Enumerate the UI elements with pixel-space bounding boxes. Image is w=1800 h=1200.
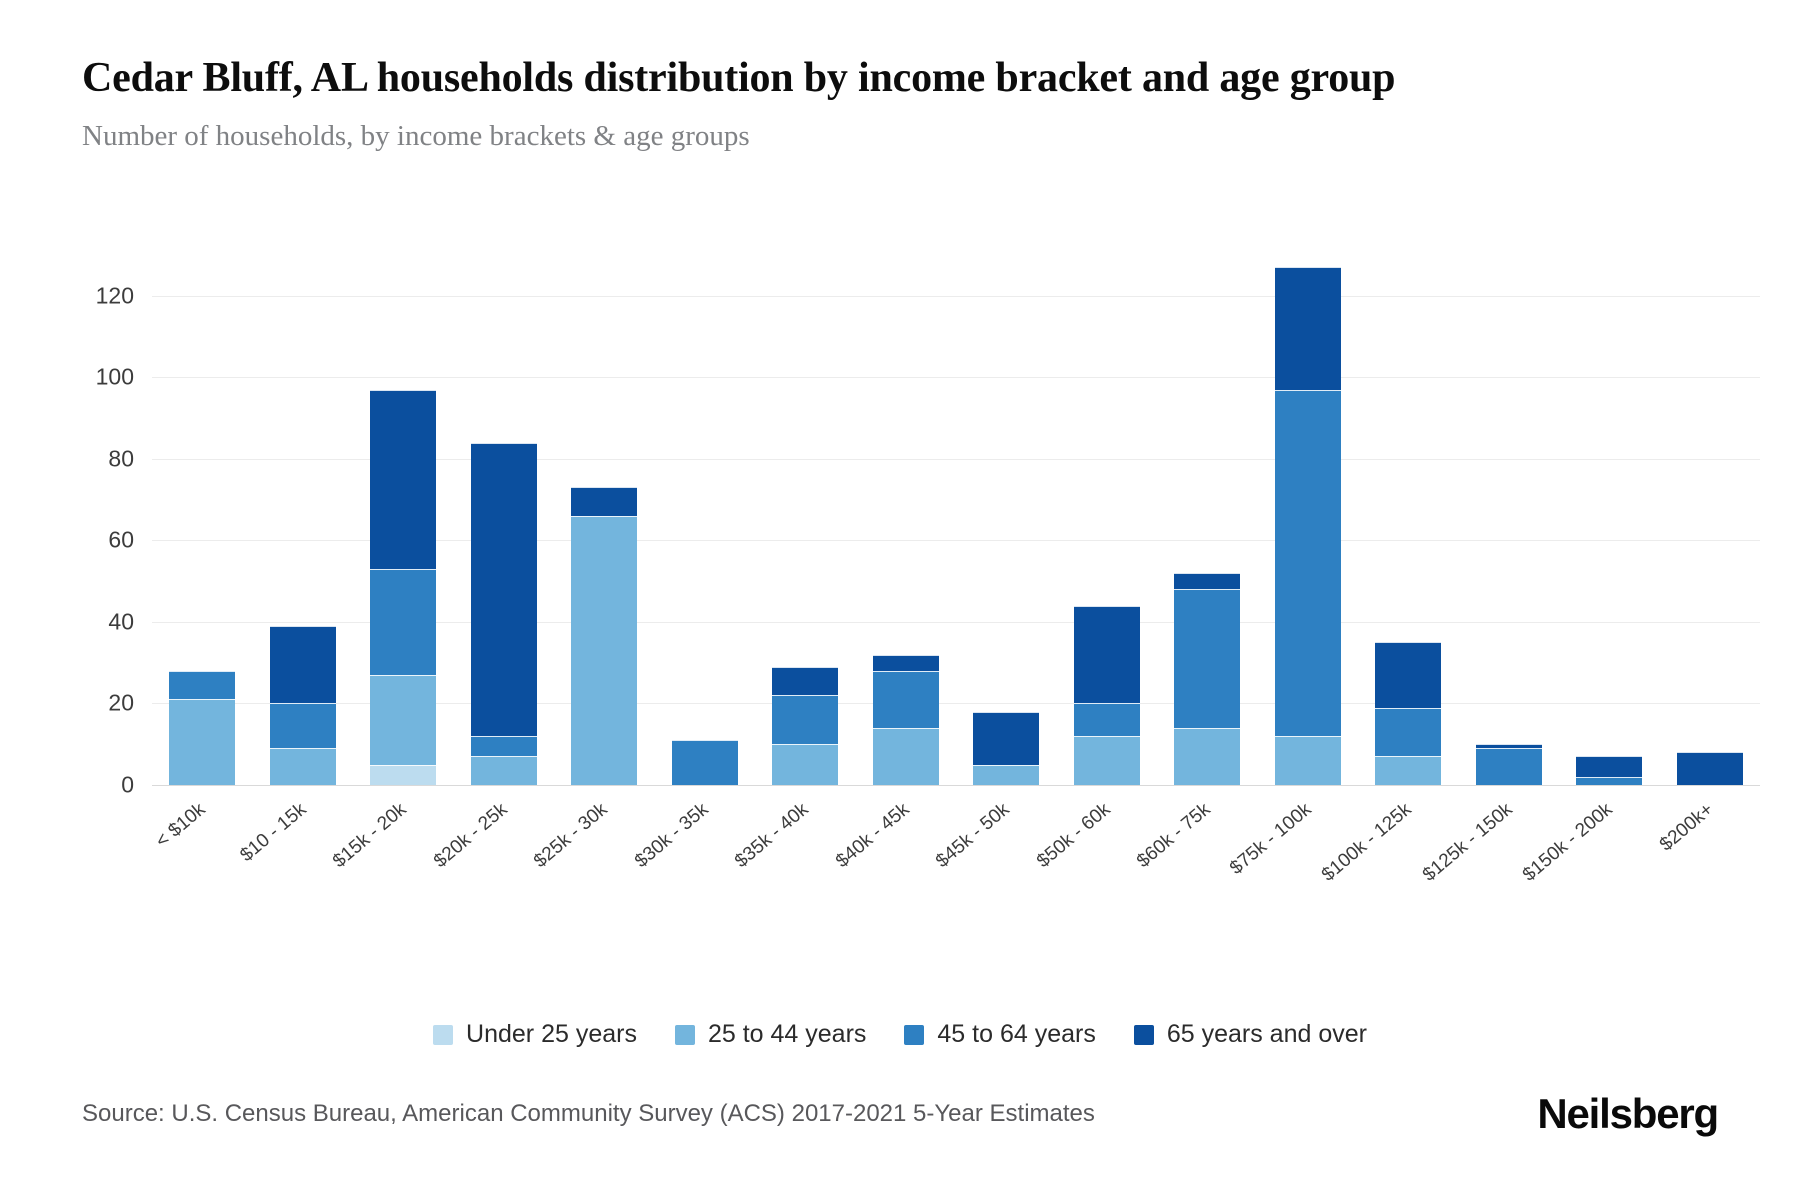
source-note: Source: U.S. Census Bureau, American Com… <box>82 1100 1095 1128</box>
bar-group[interactable] <box>1258 255 1359 785</box>
bar-group[interactable] <box>1057 255 1158 785</box>
legend-label: 25 to 44 years <box>708 1020 866 1049</box>
bar-segment[interactable] <box>370 390 436 569</box>
bar-group[interactable] <box>554 255 655 785</box>
bar-segment[interactable] <box>1174 573 1240 589</box>
y-axis-tick-label: 40 <box>108 608 134 635</box>
y-axis-tick-label: 0 <box>121 772 134 799</box>
legend-item[interactable]: Under 25 years <box>433 1020 637 1049</box>
chart-page: Cedar Bluff, AL households distribution … <box>0 0 1800 1200</box>
page-title: Cedar Bluff, AL households distribution … <box>82 52 1642 106</box>
legend-label: 45 to 64 years <box>937 1020 1095 1049</box>
x-axis-tick: $150k - 200k <box>1559 791 1660 921</box>
bar-group[interactable] <box>956 255 1057 785</box>
legend-label: Under 25 years <box>466 1020 637 1049</box>
bar-segment[interactable] <box>1275 267 1341 389</box>
legend-swatch-icon <box>675 1025 695 1045</box>
y-axis-tick-label: 60 <box>108 527 134 554</box>
stacked-bar[interactable] <box>1375 642 1441 785</box>
y-axis-tick-label: 120 <box>96 282 134 309</box>
bar-group[interactable] <box>856 255 957 785</box>
chart-header: Cedar Bluff, AL households distribution … <box>82 52 1682 153</box>
stacked-bar[interactable] <box>270 626 336 785</box>
legend-item[interactable]: 65 years and over <box>1134 1020 1367 1049</box>
bar-group[interactable] <box>253 255 354 785</box>
y-axis-tick-label: 80 <box>108 445 134 472</box>
legend-swatch-icon <box>1134 1025 1154 1045</box>
bar-segment[interactable] <box>169 671 235 700</box>
bar-group[interactable] <box>1157 255 1258 785</box>
chart-plot-area: 020406080100120 < $10k$10 - 15k$15k - 20… <box>0 255 1800 875</box>
chart-subtitle: Number of households, by income brackets… <box>82 120 1682 153</box>
bar-segment[interactable] <box>1074 606 1140 704</box>
bar-segment[interactable] <box>471 736 537 756</box>
y-axis-tick-label: 20 <box>108 690 134 717</box>
bar-segment[interactable] <box>370 675 436 765</box>
chart-footer: Source: U.S. Census Bureau, American Com… <box>82 1090 1718 1138</box>
x-axis-tick: $200k+ <box>1660 791 1761 921</box>
bar-segment[interactable] <box>1375 642 1441 707</box>
bar-segment[interactable] <box>1074 703 1140 736</box>
bar-segment[interactable] <box>1275 390 1341 737</box>
stacked-bar[interactable] <box>1074 606 1140 785</box>
bar-segment[interactable] <box>471 443 537 737</box>
stacked-bar[interactable] <box>370 390 436 785</box>
bar-group[interactable] <box>1660 255 1761 785</box>
chart-legend: Under 25 years25 to 44 years45 to 64 yea… <box>0 1020 1800 1049</box>
bar-group[interactable] <box>1459 255 1560 785</box>
bar-group[interactable] <box>353 255 454 785</box>
bar-group[interactable] <box>1559 255 1660 785</box>
bar-group[interactable] <box>655 255 756 785</box>
stacked-bar[interactable] <box>169 671 235 785</box>
legend-swatch-icon <box>433 1025 453 1045</box>
bar-segment[interactable] <box>571 487 637 516</box>
stacked-bar[interactable] <box>873 655 939 785</box>
x-axis-tick: < $10k <box>152 791 253 921</box>
bar-group[interactable] <box>755 255 856 785</box>
bar-group[interactable] <box>1358 255 1459 785</box>
legend-swatch-icon <box>904 1025 924 1045</box>
stacked-bar[interactable] <box>1275 267 1341 785</box>
x-axis-tick-label-text: < $10k <box>152 799 210 853</box>
bar-segment[interactable] <box>772 667 838 696</box>
bar-series-container <box>152 255 1760 785</box>
legend-item[interactable]: 25 to 44 years <box>675 1020 866 1049</box>
bar-segment[interactable] <box>270 703 336 748</box>
legend-label: 65 years and over <box>1167 1020 1367 1049</box>
brand-logo: Neilsberg <box>1537 1090 1718 1138</box>
legend-item[interactable]: 45 to 64 years <box>904 1020 1095 1049</box>
x-axis-tick-label-text: $200k+ <box>1656 799 1718 856</box>
stacked-bar[interactable] <box>1174 573 1240 785</box>
bar-segment[interactable] <box>973 712 1039 765</box>
stacked-bar[interactable] <box>571 487 637 785</box>
stacked-bar[interactable] <box>471 443 537 785</box>
bar-group[interactable] <box>454 255 555 785</box>
stacked-bar[interactable] <box>772 667 838 785</box>
bar-segment[interactable] <box>370 569 436 675</box>
y-axis: 020406080100120 <box>0 255 150 795</box>
bar-segment[interactable] <box>169 699 235 785</box>
bar-segment[interactable] <box>571 516 637 785</box>
y-axis-tick-label: 100 <box>96 364 134 391</box>
bar-segment[interactable] <box>772 695 838 744</box>
bar-segment[interactable] <box>270 626 336 703</box>
bar-segment[interactable] <box>1174 589 1240 728</box>
bar-segment[interactable] <box>873 671 939 728</box>
bar-group[interactable] <box>152 255 253 785</box>
bar-segment[interactable] <box>873 655 939 671</box>
x-axis: < $10k$10 - 15k$15k - 20k$20k - 25k$25k … <box>152 791 1760 921</box>
